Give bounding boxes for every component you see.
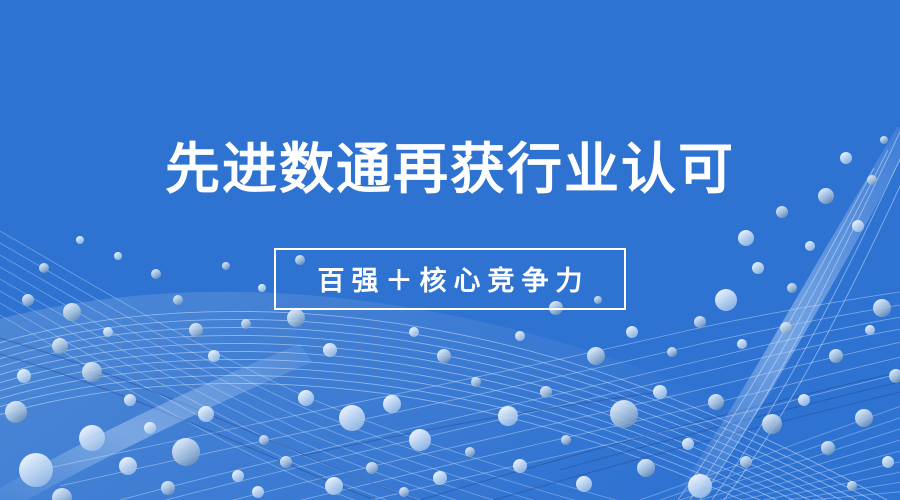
subtitle-frame: 百强＋核心竞争力 [274, 248, 626, 310]
page-title: 先进数通再获行业认可 [165, 140, 735, 198]
subtitle-text: 百强＋核心竞争力 [311, 259, 590, 298]
promo-banner: 先进数通再获行业认可 百强＋核心竞争力 [0, 0, 900, 500]
banner-content: 先进数通再获行业认可 百强＋核心竞争力 [0, 0, 900, 500]
